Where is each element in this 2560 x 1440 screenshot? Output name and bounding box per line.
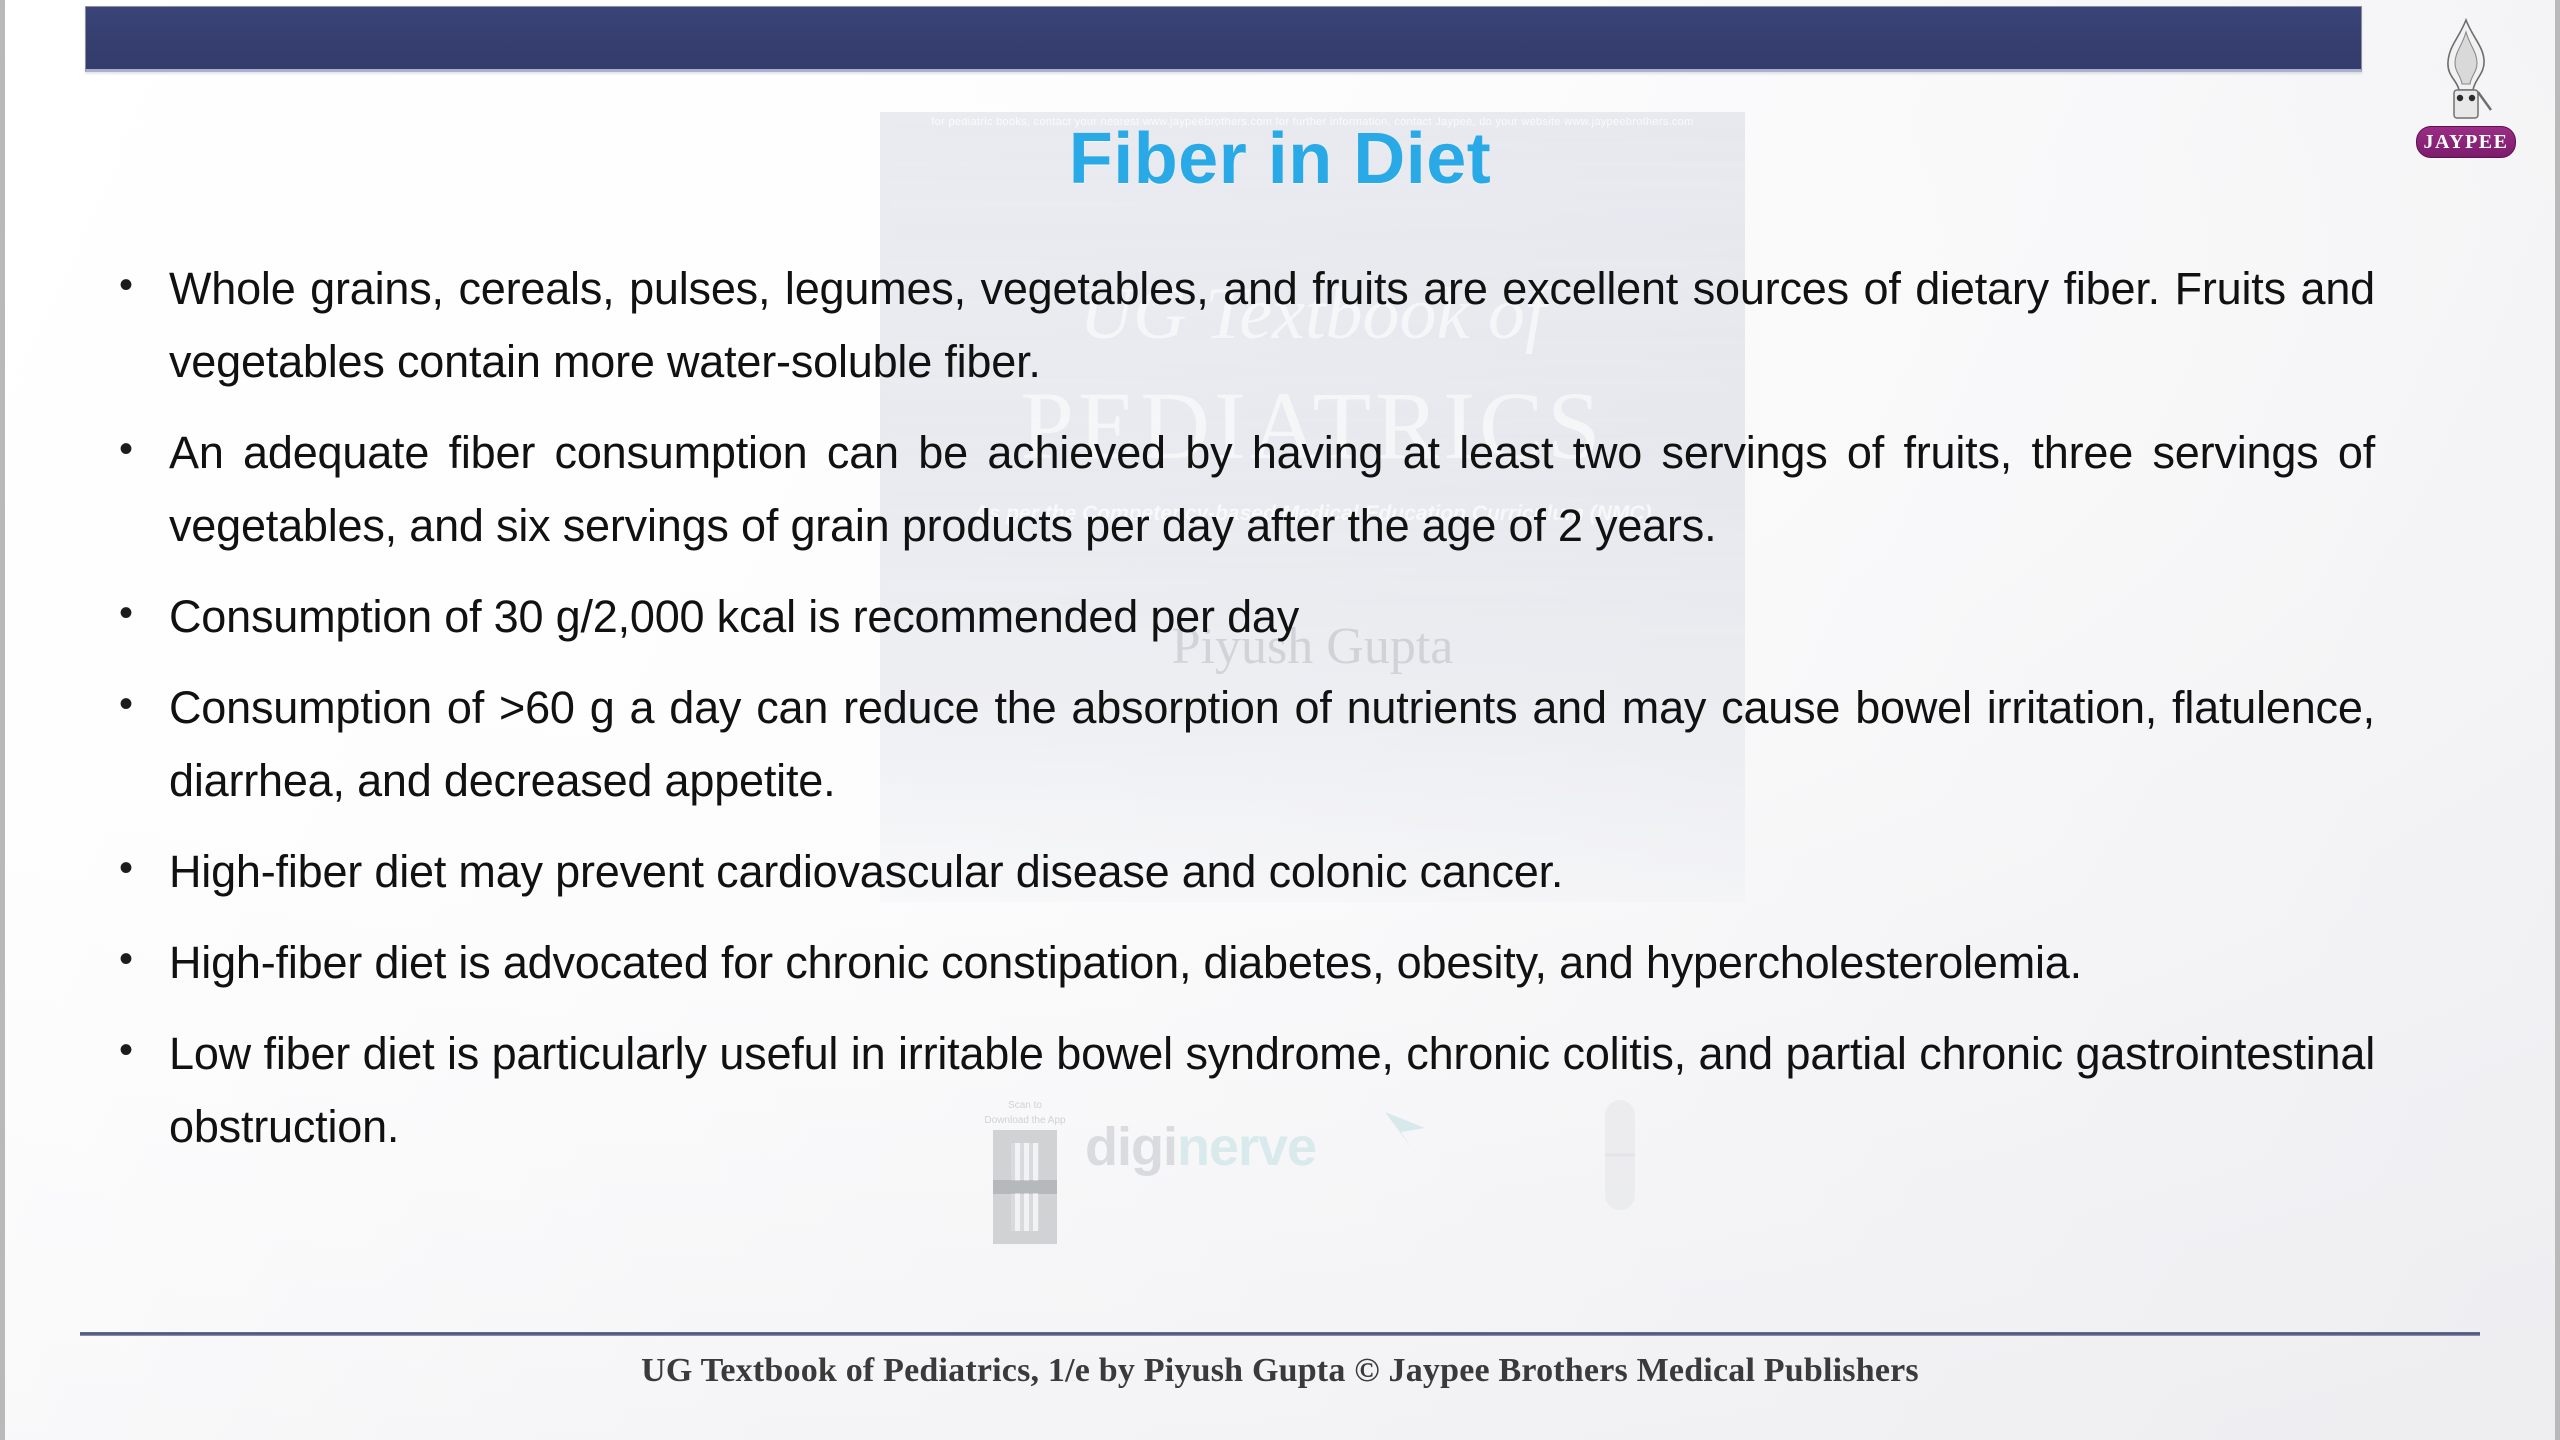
bullet-marker-icon: • <box>105 835 169 901</box>
bullet-marker-icon: • <box>105 926 169 992</box>
bullet-item: • High-fiber diet may prevent cardiovasc… <box>105 835 2375 908</box>
bullet-item: • Consumption of >60 g a day can reduce … <box>105 671 2375 817</box>
bullet-item: • Whole grains, cereals, pulses, legumes… <box>105 252 2375 398</box>
slide-title: Fiber in Diet <box>5 118 2555 200</box>
bullet-marker-icon: • <box>105 252 169 318</box>
bullet-item: • Consumption of 30 g/2,000 kcal is reco… <box>105 580 2375 653</box>
bullet-marker-icon: • <box>105 580 169 646</box>
bullet-text: Low fiber diet is particularly useful in… <box>169 1017 2375 1163</box>
bullet-text: Whole grains, cereals, pulses, legumes, … <box>169 252 2375 398</box>
bullet-text: Consumption of >60 g a day can reduce th… <box>169 671 2375 817</box>
bullet-marker-icon: • <box>105 1017 169 1083</box>
bullet-item: • High-fiber diet is advocated for chron… <box>105 926 2375 999</box>
top-banner-bar <box>85 6 2362 72</box>
flame-torch-icon <box>2429 18 2503 130</box>
qr-square-icon <box>993 1180 1057 1244</box>
footer-copyright: UG Textbook of Pediatrics, 1/e by Piyush… <box>5 1352 2555 1390</box>
bullet-text: High-fiber diet may prevent cardiovascul… <box>169 835 2375 908</box>
bullet-text: Consumption of 30 g/2,000 kcal is recomm… <box>169 580 2375 653</box>
bullet-marker-icon: • <box>105 416 169 482</box>
bullet-text: An adequate fiber consumption can be ach… <box>169 416 2375 562</box>
slide-canvas: JAYPEE for pediatric books, contact your… <box>0 0 2560 1440</box>
bullet-text: High-fiber diet is advocated for chronic… <box>169 926 2375 999</box>
footer-divider <box>80 1332 2480 1336</box>
bullet-marker-icon: • <box>105 671 169 737</box>
bullet-item: • An adequate fiber consumption can be a… <box>105 416 2375 562</box>
qr-code-watermark-bottom <box>965 1180 1085 1320</box>
bullet-item: • Low fiber diet is particularly useful … <box>105 1017 2375 1163</box>
bullet-list: • Whole grains, cereals, pulses, legumes… <box>105 252 2375 1181</box>
